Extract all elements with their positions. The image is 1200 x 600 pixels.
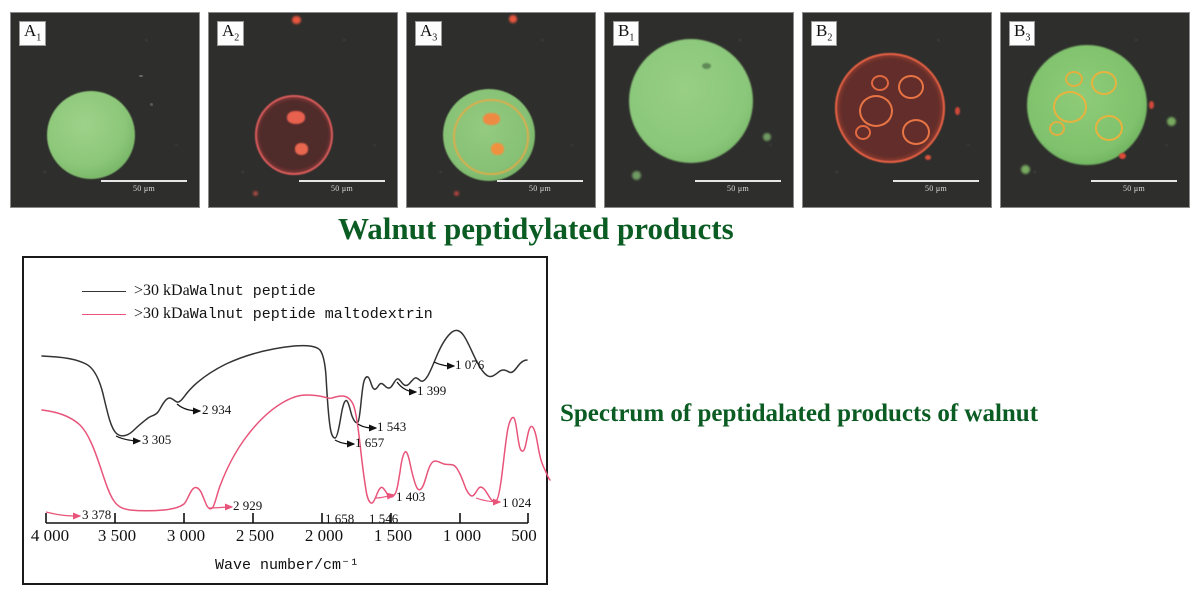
panel-label-a2: A2	[217, 21, 244, 46]
panel-label-b1: B1	[613, 21, 639, 46]
annotation-red-1403: 1 403	[396, 489, 425, 505]
x-tick-3500: 3 500	[98, 526, 136, 546]
vacuole-ring	[1053, 91, 1087, 123]
debris-speck	[1021, 165, 1030, 174]
orange-ring	[453, 99, 529, 175]
x-tick-3000: 3 000	[167, 526, 205, 546]
scale-bar-label: 50 μm	[101, 184, 187, 193]
panel-label-letter: A	[222, 21, 234, 40]
x-tick-500: 500	[511, 526, 537, 546]
panel-label-sub: 2	[827, 32, 832, 43]
chart-legend: >30 kDaWalnut peptide >30 kDaWalnut pept…	[82, 280, 433, 325]
micrograph-panel-strip: A1 50 μm A2 50 μm A3	[0, 12, 1200, 208]
x-axis	[46, 513, 528, 523]
debris-speck	[509, 15, 517, 23]
annotation-black-3305: 3 305	[142, 432, 171, 448]
annotation-black-1543: 1 543	[377, 419, 406, 435]
orange-inclusion	[491, 143, 504, 155]
annotation-red-1546: 1 546	[369, 511, 398, 527]
vacuole-ring	[1091, 71, 1117, 95]
scale-bar-line	[299, 180, 385, 182]
debris-speck	[1149, 101, 1154, 109]
legend-label-maltodextrin: >30 kDaWalnut peptide maltodextrin	[134, 303, 433, 326]
panel-label-sub: 3	[1025, 32, 1030, 43]
vacuole-ring	[1049, 121, 1065, 136]
debris-speck	[150, 103, 153, 106]
panels-title: Walnut peptidylated products	[338, 211, 734, 247]
legend-rest-maltodextrin: Walnut peptide maltodextrin	[190, 306, 433, 323]
scale-bar-line	[497, 180, 583, 182]
red-ring-sphere	[255, 95, 333, 175]
scale-bar-label: 50 μm	[893, 184, 979, 193]
green-sphere	[629, 39, 753, 163]
vacuole-ring	[898, 75, 924, 99]
panel-label-letter: B	[816, 21, 827, 40]
panel-label-a1: A1	[19, 21, 46, 46]
debris-speck	[925, 155, 931, 160]
debris-speck	[253, 191, 258, 196]
legend-entry-maltodextrin[interactable]: >30 kDaWalnut peptide maltodextrin	[82, 303, 433, 326]
legend-prefix-peptide: >30 kDa	[134, 282, 190, 299]
scale-bar-line	[1091, 180, 1177, 182]
annotation-black-1076: 1 076	[455, 357, 484, 373]
panel-label-b2: B2	[811, 21, 837, 46]
annotation-arrows-red	[46, 495, 500, 516]
annotation-black-2934: 2 934	[202, 402, 231, 418]
legend-swatch-red	[82, 314, 126, 315]
debris-speck	[955, 107, 960, 115]
panel-label-sub: 2	[234, 32, 239, 43]
micrograph-panel-b1[interactable]: B1 50 μm	[604, 12, 794, 208]
x-tick-1500: 1 500	[374, 526, 412, 546]
scale-bar-a3: 50 μm	[497, 180, 583, 193]
panel-label-sub: 1	[629, 32, 634, 43]
panel-label-a3: A3	[415, 21, 442, 46]
scale-bar-a2: 50 μm	[299, 180, 385, 193]
scale-bar-b2: 50 μm	[893, 180, 979, 193]
scale-bar-b3: 50 μm	[1091, 180, 1177, 193]
panel-label-sub: 1	[36, 32, 41, 43]
micrograph-panel-b2[interactable]: B2 50 μm	[802, 12, 992, 208]
scale-bar-b1: 50 μm	[695, 180, 781, 193]
vacuole-ring	[859, 95, 893, 127]
orange-inclusion	[483, 113, 500, 125]
ftir-spectrum-chart[interactable]: >30 kDaWalnut peptide >30 kDaWalnut pept…	[22, 256, 548, 585]
debris-speck	[454, 191, 459, 196]
debris-speck	[702, 63, 711, 69]
annotation-red-2929: 2 929	[233, 498, 262, 514]
vacuole-ring	[871, 75, 889, 91]
vacuole-ring	[902, 119, 930, 145]
red-inclusion	[295, 143, 308, 155]
x-axis-title-text: Wave number/cm⁻¹	[215, 557, 359, 574]
legend-swatch-black	[82, 291, 126, 292]
debris-speck	[763, 133, 771, 141]
annotation-black-1657: 1 657	[355, 435, 384, 451]
panel-label-sub: 3	[432, 32, 437, 43]
micrograph-panel-a2[interactable]: A2 50 μm	[208, 12, 398, 208]
annotation-red-3378: 3 378	[82, 507, 111, 523]
debris-speck	[139, 75, 143, 77]
micrograph-panel-a3[interactable]: A3 50 μm	[406, 12, 596, 208]
micrograph-panel-a1[interactable]: A1 50 μm	[10, 12, 200, 208]
trace-walnut-peptide-maltodextrin	[42, 395, 550, 511]
panel-label-letter: B	[1014, 21, 1025, 40]
scale-bar-label: 50 μm	[695, 184, 781, 193]
debris-speck	[1119, 153, 1126, 159]
debris-speck	[292, 16, 301, 24]
debris-speck	[1167, 117, 1176, 126]
annotation-black-1399: 1 399	[417, 383, 446, 399]
vacuole-ring	[855, 125, 871, 140]
annotation-red-1024: 1 024	[502, 495, 531, 511]
scale-bar-label: 50 μm	[497, 184, 583, 193]
annotation-red-1658: 1 658	[325, 511, 354, 527]
debris-speck	[632, 171, 641, 180]
scale-bar-line	[101, 180, 187, 182]
red-inclusion	[287, 111, 305, 124]
legend-entry-peptide[interactable]: >30 kDaWalnut peptide	[82, 280, 433, 303]
trace-walnut-peptide	[42, 330, 527, 438]
scale-bar-a1: 50 μm	[101, 180, 187, 193]
x-axis-title: Wave number/cm⁻¹	[24, 555, 550, 574]
panel-label-letter: B	[618, 21, 629, 40]
spectrum-caption: Spectrum of peptidalated products of wal…	[560, 400, 1038, 428]
scale-bar-line	[893, 180, 979, 182]
x-tick-2500: 2 500	[236, 526, 274, 546]
vacuole-ring	[1065, 71, 1083, 87]
micrograph-panel-b3[interactable]: B3 50 μm	[1000, 12, 1190, 208]
x-tick-2000: 2 000	[305, 526, 343, 546]
panel-label-letter: A	[24, 21, 36, 40]
scale-bar-label: 50 μm	[1091, 184, 1177, 193]
x-tick-4000: 4 000	[31, 526, 69, 546]
vacuole-ring	[1095, 115, 1123, 141]
panel-label-letter: A	[420, 21, 432, 40]
green-sphere	[1027, 45, 1147, 165]
x-tick-1000: 1 000	[443, 526, 481, 546]
legend-prefix-maltodextrin: >30 kDa	[134, 305, 190, 322]
legend-label-peptide: >30 kDaWalnut peptide	[134, 280, 316, 303]
legend-rest-peptide: Walnut peptide	[190, 283, 316, 300]
scale-bar-line	[695, 180, 781, 182]
panel-label-b3: B3	[1009, 21, 1035, 46]
scale-bar-label: 50 μm	[299, 184, 385, 193]
green-sphere	[47, 91, 135, 179]
